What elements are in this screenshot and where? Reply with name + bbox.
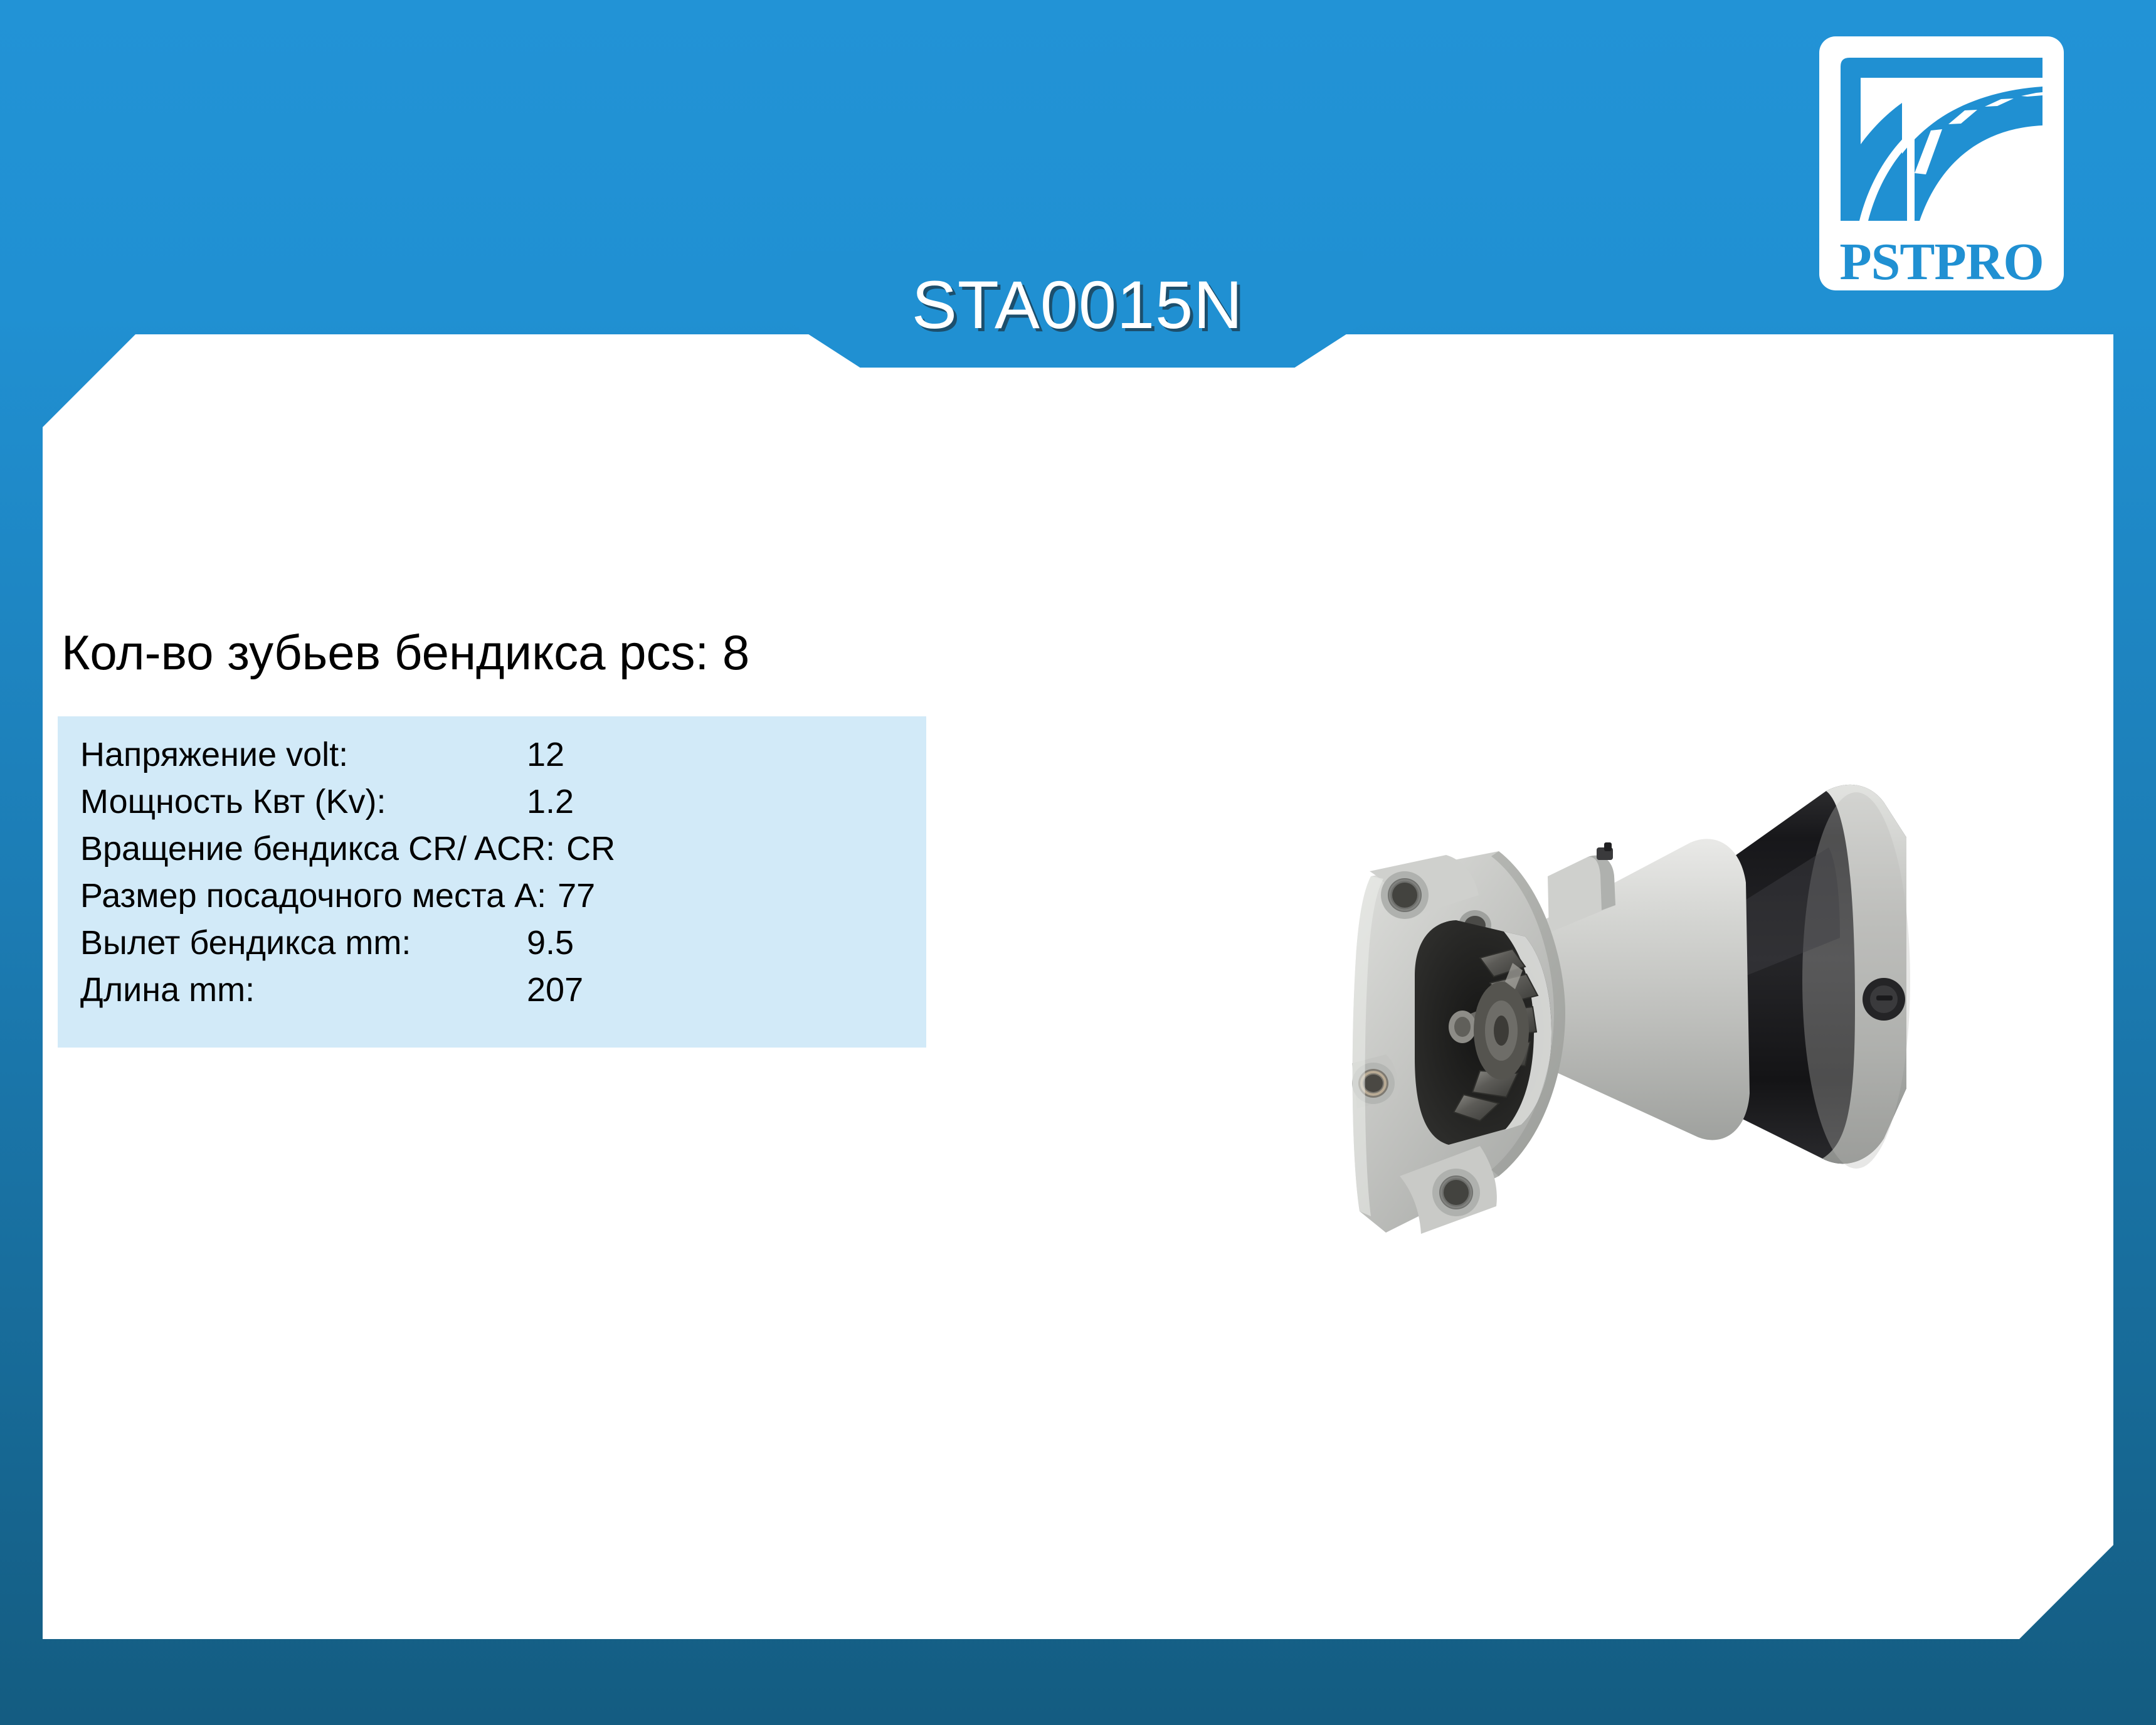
page-title: STA0015N bbox=[912, 271, 1243, 339]
teeth-count-heading: Кол-во зубьев бендикса pcs: 8 bbox=[61, 627, 1061, 679]
spec-value: 1.2 bbox=[527, 785, 574, 819]
spec-label: Напряжение volt: bbox=[80, 738, 527, 772]
spec-value: CR bbox=[566, 832, 615, 866]
specifications-table: Напряжение volt: 12 Мощность Квт (Kv): 1… bbox=[58, 716, 926, 1048]
spec-label: Вылет бендикса mm: bbox=[80, 926, 527, 960]
spec-label: Размер посадочного места A: bbox=[80, 879, 546, 913]
table-row: Размер посадочного места A: 77 bbox=[58, 879, 926, 926]
logo-wordmark: PSTPRO bbox=[1819, 237, 2064, 288]
spec-label: Мощность Квт (Kv): bbox=[80, 785, 527, 819]
spec-value: 9.5 bbox=[527, 926, 574, 960]
table-row: Мощность Квт (Kv): 1.2 bbox=[58, 785, 926, 832]
spec-value: 207 bbox=[527, 973, 583, 1007]
brand-logo: PSTPRO bbox=[1819, 36, 2064, 290]
table-row: Напряжение volt: 12 bbox=[58, 738, 926, 785]
spec-label: Вращение бендикса CR/ ACR: bbox=[80, 832, 555, 866]
road-logo-icon bbox=[1832, 50, 2051, 221]
table-row: Длина mm: 207 bbox=[58, 973, 926, 1020]
part-number-banner: STA0015N bbox=[791, 251, 1363, 368]
table-row: Вылет бендикса mm: 9.5 bbox=[58, 926, 926, 973]
spec-label: Длина mm: bbox=[80, 973, 527, 1007]
datasheet-page: PSTPRO STA0015N Кол-во зубьев бендикса p… bbox=[0, 0, 2156, 1725]
starter-motor-photo bbox=[1292, 737, 1950, 1276]
spec-value: 12 bbox=[527, 738, 564, 772]
spec-value: 77 bbox=[557, 879, 595, 913]
specifications-section: Кол-во зубьев бендикса pcs: 8 Напряжение… bbox=[58, 627, 1061, 1048]
table-row: Вращение бендикса CR/ ACR: CR bbox=[58, 832, 926, 879]
